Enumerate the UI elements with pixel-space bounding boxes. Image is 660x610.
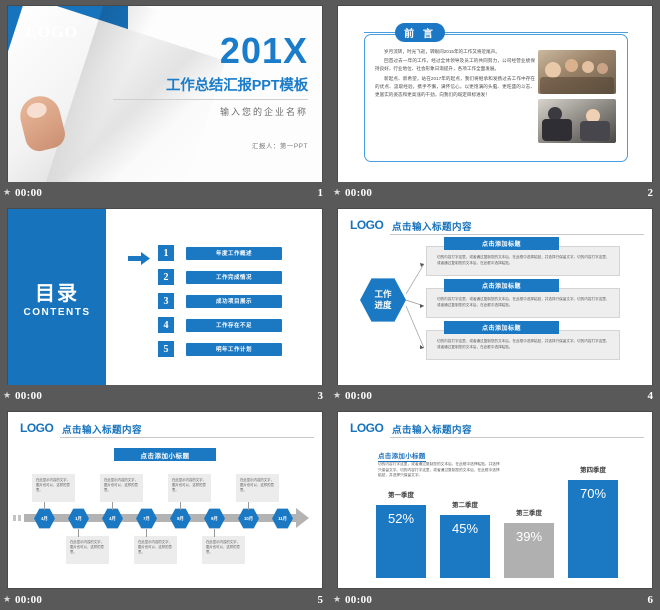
star-icon: ★: [3, 391, 12, 400]
cover-subtitle: 工作总结汇报PPT模板: [113, 74, 308, 95]
timeline-node[interactable]: 4月: [34, 508, 55, 529]
hex-line-2: 进度: [374, 300, 391, 311]
cover-company-placeholder: 输入您的企业名称: [113, 105, 308, 118]
bar-group: 第二季度 45%: [440, 515, 490, 578]
preface-paragraph: 回首过去一年的工作，经过全体领导及员工的共同努力，公司经营业绩保持良好，行业地位…: [375, 57, 535, 73]
bar-rect: 39%: [504, 523, 554, 578]
timeline-note: 在此显示内容的文字，图片也可以，这样的意思。: [168, 474, 211, 502]
preface-badge: 前 言: [395, 23, 445, 42]
content-body: 切的内容打字这里，或者通过复制您的文本后，在此框中选择粘贴，并选择只保留文字。切…: [426, 330, 620, 360]
header-logo: LOGO: [350, 421, 383, 435]
slide-1-footer: ★ 00:00 1: [0, 182, 330, 203]
contents-title-en: CONTENTS: [24, 307, 91, 318]
meeting-photo: [538, 50, 616, 94]
slide-2[interactable]: 前 言 岁月流转，时光飞逝，转眼间2015年的工作又将近尾声。 回首过去一年的工…: [338, 6, 652, 182]
slide-3-footer: ★ 00:00 3: [0, 385, 330, 406]
contents-number: 5: [158, 341, 174, 357]
header-divider: [390, 437, 644, 438]
header-logo: LOGO: [20, 421, 53, 435]
footer-page-number: 5: [318, 594, 324, 606]
star-icon: ★: [3, 595, 12, 604]
header-divider: [390, 234, 644, 235]
contents-number: 1: [158, 245, 174, 261]
preface-paragraph: 岁月流转，时光飞逝，转眼间2015年的工作又将近尾声。: [375, 48, 535, 56]
footer-page-number: 2: [648, 187, 654, 199]
content-body: 切的内容打字这里，或者通过复制您的文本后，在此框中选择粘贴，并选择只保留文字。切…: [426, 246, 620, 276]
fingernail: [25, 101, 48, 120]
cover-logo: LOGO: [26, 24, 78, 42]
contents-list: 1 年度工作概述 2 工作完成情况 3 成功项目展示 4 工作存在不足 5: [158, 245, 282, 365]
timeline-note: 在此显示内容的文字，图片也可以，这样的意思。: [32, 474, 75, 502]
cover-divider: [113, 99, 308, 100]
preface-paragraph: 新起点、新希望，站在2017年的起点，我们将继承和发扬过去工作中存在的优点、汲取…: [375, 75, 535, 100]
star-icon: ★: [333, 391, 342, 400]
list-item[interactable]: 2 工作完成情况: [158, 269, 282, 285]
bar-rect: 70%: [568, 480, 618, 578]
slide-6-footer: ★ 00:00 6: [330, 589, 660, 610]
slide-4[interactable]: LOGO 点击输入标题内容 工作 进度 切的内容打字这里，或者通过复制您的文本后…: [338, 209, 652, 385]
bar-group: 第三季度 39%: [504, 523, 554, 578]
bar-rect: 52%: [376, 505, 426, 578]
list-item[interactable]: 4 工作存在不足: [158, 317, 282, 333]
slide-cell-3[interactable]: 目录 CONTENTS 1 年度工作概述 2 工作完成情况 3 成功项目展示: [0, 203, 330, 406]
footer-page-number: 1: [318, 187, 324, 199]
contents-number: 3: [158, 293, 174, 309]
list-item[interactable]: 1 年度工作概述: [158, 245, 282, 261]
list-item[interactable]: 5 明年工作计划: [158, 341, 282, 357]
footer-time: 00:00: [15, 187, 42, 199]
timeline-node[interactable]: 11月: [272, 508, 293, 529]
footer-time: 00:00: [345, 594, 372, 606]
cover-presenter: 汇报人：第一PPT: [113, 140, 308, 150]
slide-5-footer: ★ 00:00 5: [0, 589, 330, 610]
timeline-node[interactable]: 10月: [238, 508, 259, 529]
work-progress-hexagon: 工作 进度: [360, 277, 406, 323]
bar-category-label: 第四季度: [568, 464, 618, 474]
timeline-stem: [180, 502, 181, 510]
header-logo: LOGO: [350, 218, 383, 232]
footer-time: 00:00: [15, 594, 42, 606]
timeline-note: 在此显示内容的文字，图片也可以，这样的意思。: [236, 474, 279, 502]
header-title[interactable]: 点击输入标题内容: [392, 422, 472, 436]
bar-category-label: 第三季度: [504, 507, 554, 517]
content-caption[interactable]: 点击添加标题: [444, 279, 559, 292]
handshake-photo: [538, 99, 616, 143]
bar-group: 第四季度 70%: [568, 480, 618, 578]
cover-year: 201X: [113, 32, 308, 70]
timeline-stem: [248, 502, 249, 510]
timeline-node[interactable]: 7月: [136, 508, 157, 529]
slide-header: LOGO 点击输入标题内容: [338, 209, 652, 237]
slide-cell-5[interactable]: LOGO 点击输入标题内容 点击添加小标题 4月 1月 4月 7月 8月 9月 …: [0, 406, 330, 610]
content-caption[interactable]: 点击添加标题: [444, 237, 559, 250]
content-body: 切的内容打字这里，或者通过复制您的文本后，在此框中选择粘贴，并选择只保留文字。切…: [426, 288, 620, 318]
bar-category-label: 第一季度: [376, 489, 426, 499]
contents-number: 2: [158, 269, 174, 285]
timeline-note: 在此显示内容的文字，图片也可以，这样的意思。: [66, 536, 109, 564]
content-item[interactable]: 切的内容打字这里，或者通过复制您的文本后，在此框中选择粘贴，并选择只保留文字。切…: [426, 246, 620, 276]
header-divider: [60, 437, 314, 438]
slide-cell-2[interactable]: 前 言 岁月流转，时光飞逝，转眼间2015年的工作又将近尾声。 回首过去一年的工…: [330, 0, 660, 203]
timeline-stem: [214, 529, 215, 537]
header-title[interactable]: 点击输入标题内容: [392, 219, 472, 233]
footer-page-number: 3: [318, 390, 324, 402]
timeline-node[interactable]: 9月: [204, 508, 225, 529]
slide-header: LOGO 点击输入标题内容: [8, 412, 322, 440]
contents-label[interactable]: 年度工作概述: [186, 247, 282, 260]
preface-text: 岁月流转，时光飞逝，转眼间2015年的工作又将近尾声。 回首过去一年的工作，经过…: [375, 48, 535, 100]
star-icon: ★: [3, 188, 12, 197]
timeline-note: 在此显示内容的文字，图片也可以，这样的意思。: [202, 536, 245, 564]
slide-4-footer: ★ 00:00 4: [330, 385, 660, 406]
timeline-arrow-icon: [296, 508, 309, 528]
bar-category-label: 第二季度: [440, 499, 490, 509]
footer-time: 00:00: [345, 390, 372, 402]
slide-6[interactable]: LOGO 点击输入标题内容 点击添加小标题 切的内容打字这里，或者通过复制您的文…: [338, 412, 652, 588]
bar-group: 第一季度 52%: [376, 505, 426, 578]
preface-photos: [538, 50, 616, 148]
timeline-note: 在此显示内容的文字，图片也可以，这样的意思。: [100, 474, 143, 502]
slide-header: LOGO 点击输入标题内容: [338, 412, 652, 440]
timeline-stem: [44, 502, 45, 510]
timeline-subtitle[interactable]: 点击添加小标题: [114, 448, 216, 461]
star-icon: ★: [333, 595, 342, 604]
slide-2-footer: ★ 00:00 2: [330, 182, 660, 203]
contents-label[interactable]: 明年工作计划: [186, 343, 282, 356]
slide-cell-4[interactable]: LOGO 点击输入标题内容 工作 进度 切的内容打字这里，或者通过复制您的文本后…: [330, 203, 660, 406]
slide-5[interactable]: LOGO 点击输入标题内容 点击添加小标题 4月 1月 4月 7月 8月 9月 …: [8, 412, 322, 588]
cover-text-block: 201X 工作总结汇报PPT模板 输入您的企业名称 汇报人：第一PPT: [113, 32, 308, 150]
timeline-dash: [18, 515, 21, 521]
footer-time: 00:00: [345, 187, 372, 199]
bar-rect: 45%: [440, 515, 490, 578]
timeline-node[interactable]: 4月: [102, 508, 123, 529]
content-item[interactable]: 切的内容打字这里，或者通过复制您的文本后，在此框中选择粘贴，并选择只保留文字。切…: [426, 330, 620, 360]
timeline-stem: [112, 502, 113, 510]
footer-time: 00:00: [15, 390, 42, 402]
slide-cell-1[interactable]: LOGO 201X 工作总结汇报PPT模板 输入您的企业名称 汇报人：第一PPT…: [0, 0, 330, 203]
hex-line-1: 工作: [374, 289, 391, 300]
bar-chart: 第一季度 52% 第二季度 45% 第三季度 39% 第四季度 70%: [376, 448, 626, 578]
content-caption[interactable]: 点击添加标题: [444, 321, 559, 334]
timeline-stem: [146, 529, 147, 537]
contents-label[interactable]: 工作完成情况: [186, 271, 282, 284]
arrow-right-icon: [128, 252, 150, 265]
content-item[interactable]: 切的内容打字这里，或者通过复制您的文本后，在此框中选择粘贴，并选择只保留文字。切…: [426, 288, 620, 318]
list-item[interactable]: 3 成功项目展示: [158, 293, 282, 309]
contents-number: 4: [158, 317, 174, 333]
contents-label[interactable]: 工作存在不足: [186, 319, 282, 332]
slide-cell-6[interactable]: LOGO 点击输入标题内容 点击添加小标题 切的内容打字这里，或者通过复制您的文…: [330, 406, 660, 610]
timeline-note: 在此显示内容的文字，图片也可以，这样的意思。: [134, 536, 177, 564]
slide-1[interactable]: LOGO 201X 工作总结汇报PPT模板 输入您的企业名称 汇报人：第一PPT: [8, 6, 322, 182]
slide-thumbnail-grid: LOGO 201X 工作总结汇报PPT模板 输入您的企业名称 汇报人：第一PPT…: [0, 0, 660, 610]
contents-panel: 目录 CONTENTS: [8, 209, 106, 385]
timeline-stem: [78, 529, 79, 537]
star-icon: ★: [333, 188, 342, 197]
header-title[interactable]: 点击输入标题内容: [62, 422, 142, 436]
footer-page-number: 6: [648, 594, 654, 606]
timeline-node[interactable]: 8月: [170, 508, 191, 529]
contents-label[interactable]: 成功项目展示: [186, 295, 282, 308]
timeline-dash: [13, 515, 16, 521]
contents-title-cn: 目录: [35, 277, 79, 306]
timeline-node[interactable]: 1月: [68, 508, 89, 529]
footer-page-number: 4: [648, 390, 654, 402]
slide-3[interactable]: 目录 CONTENTS 1 年度工作概述 2 工作完成情况 3 成功项目展示: [8, 209, 322, 385]
